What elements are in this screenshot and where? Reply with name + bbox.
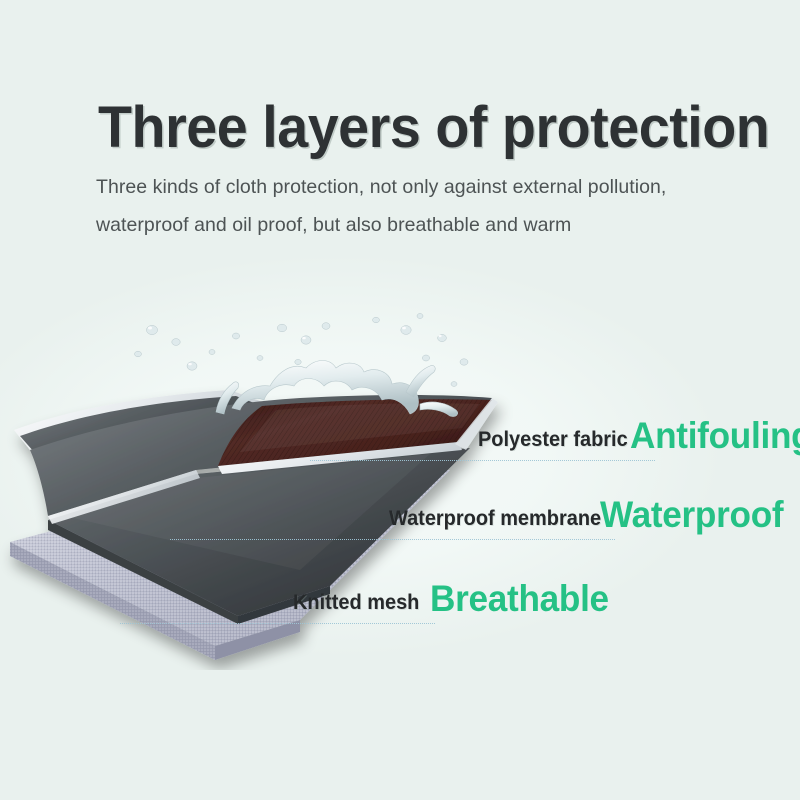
- callout-row-polyester: Polyester fabric Antifouling: [0, 415, 800, 455]
- layer-label-polyester: Polyester fabric: [478, 428, 628, 452]
- callout-row-membrane: Waterproof membrane Waterproof: [0, 494, 800, 534]
- page-title: Three layers of protection: [98, 97, 769, 159]
- leader-line-membrane: [170, 539, 615, 540]
- benefit-label-waterproof: Waterproof: [600, 494, 783, 536]
- page-subtitle: Three kinds of cloth protection, not onl…: [96, 168, 696, 244]
- product-infographic: Three layers of protection Three kinds o…: [0, 0, 800, 800]
- leader-line-polyester: [310, 460, 655, 461]
- callout-row-mesh: Knitted mesh Breathable: [0, 578, 800, 618]
- benefit-label-breathable: Breathable: [430, 578, 609, 620]
- layer-label-mesh: Knitted mesh: [293, 591, 419, 615]
- benefit-label-antifouling: Antifouling: [630, 415, 800, 457]
- leader-line-mesh: [120, 623, 435, 624]
- layer-label-membrane: Waterproof membrane: [389, 507, 601, 531]
